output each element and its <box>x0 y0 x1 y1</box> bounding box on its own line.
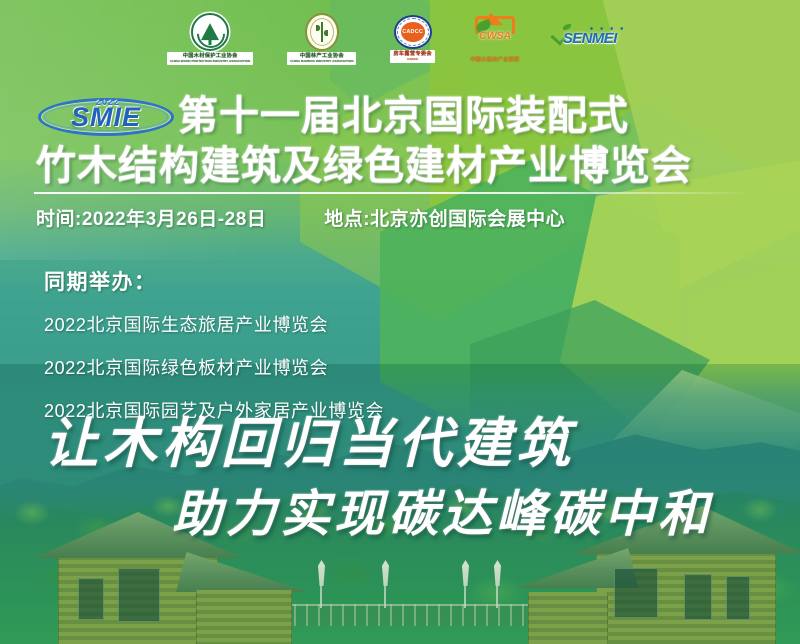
logo-china-bamboo-industry-association: 中国林产工业协会 CHINA BAMBOO INDUSTRY ASSOCIATI… <box>287 13 356 64</box>
slogan-line-2: 助力实现碳达峰碳中和 <box>172 489 712 539</box>
cadcc-roundel-icon: CADCC <box>394 15 432 49</box>
poster-title: 第十一届北京国际装配式 竹木结构建筑及绿色建材产业博览会 <box>0 92 800 190</box>
logo-cwsa: CWSA 中国木结构产业联盟 <box>469 14 521 64</box>
house-leaf-icon: CWSA <box>469 14 521 48</box>
event-venue: 地点:北京亦创国际会展中心 <box>324 204 565 231</box>
event-date: 时间:2022年3月26日-28日 <box>36 204 266 231</box>
title-line-1: 第十一届北京国际装配式 <box>178 92 800 140</box>
exhibition-poster: 中国木材保护工业协会 CHINA WOOD PROTECTION INDUSTR… <box>0 0 800 644</box>
senmei-wordmark-icon: SENMEI <box>555 26 633 52</box>
logo-label-en: CADCC <box>393 58 431 62</box>
concurrent-event-item: 2022北京国际绿色板材产业博览会 <box>44 354 564 380</box>
cadcc-mark-text: CADCC <box>401 22 425 42</box>
pine-tree-roundel-icon <box>191 13 229 51</box>
concurrent-heading: 同期举办： <box>44 266 564 296</box>
logo-label-en: CHINA WOOD PROTECTION INDUSTRY ASSOCIATI… <box>170 60 250 64</box>
cwsa-mark-text: CWSA <box>469 30 521 42</box>
event-meta: 时间:2022年3月26日-28日 地点:北京亦创国际会展中心 <box>36 204 776 231</box>
senmei-mark-text: SENMEI <box>563 30 617 47</box>
logo-china-wood-protection-industry-association: 中国木材保护工业协会 CHINA WOOD PROTECTION INDUSTR… <box>167 13 253 64</box>
title-divider <box>34 192 754 194</box>
poster-content: 中国木材保护工业协会 CHINA WOOD PROTECTION INDUSTR… <box>0 0 800 644</box>
logo-cadcc-rv-camping-committee: CADCC 房车露营专委会 CADCC <box>390 15 434 62</box>
title-line-2: 竹木结构建筑及绿色建材产业博览会 <box>36 142 800 190</box>
logo-label-en: CHINA BAMBOO INDUSTRY ASSOCIATION <box>290 60 353 64</box>
logo-label: 中国木结构产业联盟 <box>470 57 519 64</box>
logo-senmei: SENMEI <box>555 26 633 52</box>
slogan-line-1: 让木构回归当代建筑 <box>44 416 575 470</box>
bamboo-roundel-icon <box>305 13 339 51</box>
concurrent-event-item: 2022北京国际生态旅居产业博览会 <box>44 311 564 337</box>
sponsor-logo-strip: 中国木材保护工业协会 CHINA WOOD PROTECTION INDUSTR… <box>0 8 800 70</box>
